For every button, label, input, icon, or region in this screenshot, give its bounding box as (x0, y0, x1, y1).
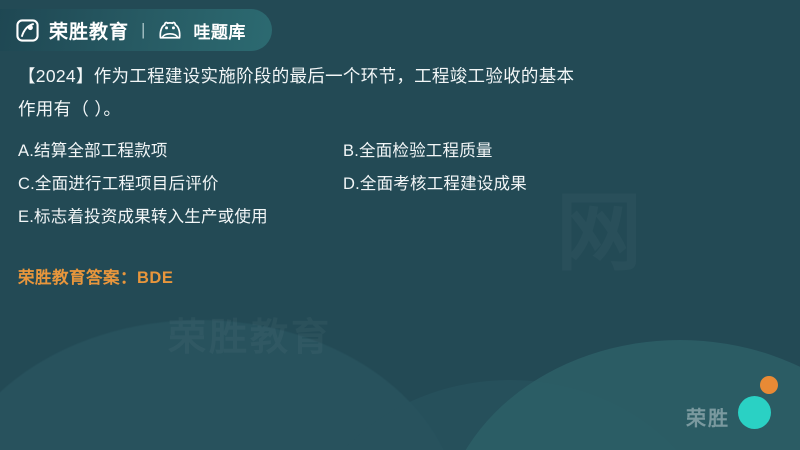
option-c[interactable]: C.全面进行工程项目后评价 (18, 168, 343, 201)
question-content: 【2024】作为工程建设实施阶段的最后一个环节，工程竣工验收的基本作用有（ ）。… (18, 60, 776, 288)
brand-name-label: 荣胜教育 (49, 17, 129, 44)
question-stem: 【2024】作为工程建设实施阶段的最后一个环节，工程竣工验收的基本作用有（ ）。 (18, 60, 578, 126)
watermark-center-brand: 荣胜教育 (168, 306, 332, 361)
option-a[interactable]: A.结算全部工程款项 (18, 135, 343, 168)
header-bar: 荣胜教育 | 哇题库 (0, 0, 800, 58)
slide-canvas: 网 荣胜教育 荣胜教育 | 哇题库 (0, 0, 800, 450)
answer-line: 荣胜教育答案：BDE (18, 264, 776, 288)
decorative-wave-middle (300, 380, 720, 450)
aperture-logo-icon (16, 19, 39, 42)
option-e[interactable]: E.标志着投资成果转入生产或使用 (18, 201, 776, 234)
brand-separator: | (141, 20, 145, 40)
decorative-dot-teal (738, 396, 771, 429)
option-list: A.结算全部工程款项 B.全面检验工程质量 C.全面进行工程项目后评价 D.全面… (18, 135, 776, 234)
decorative-dot-orange (760, 376, 778, 394)
watermark-corner-brand: 荣胜 (686, 402, 730, 431)
sub-brand-name-label: 哇题库 (193, 18, 246, 43)
frog-mascot-icon (157, 20, 183, 40)
option-d[interactable]: D.全面考核工程建设成果 (343, 168, 776, 201)
option-b[interactable]: B.全面检验工程质量 (343, 135, 776, 168)
decorative-wave-left (0, 320, 460, 450)
brand-logo-pill[interactable]: 荣胜教育 | 哇题库 (0, 9, 272, 51)
decorative-wave-right (440, 340, 800, 450)
